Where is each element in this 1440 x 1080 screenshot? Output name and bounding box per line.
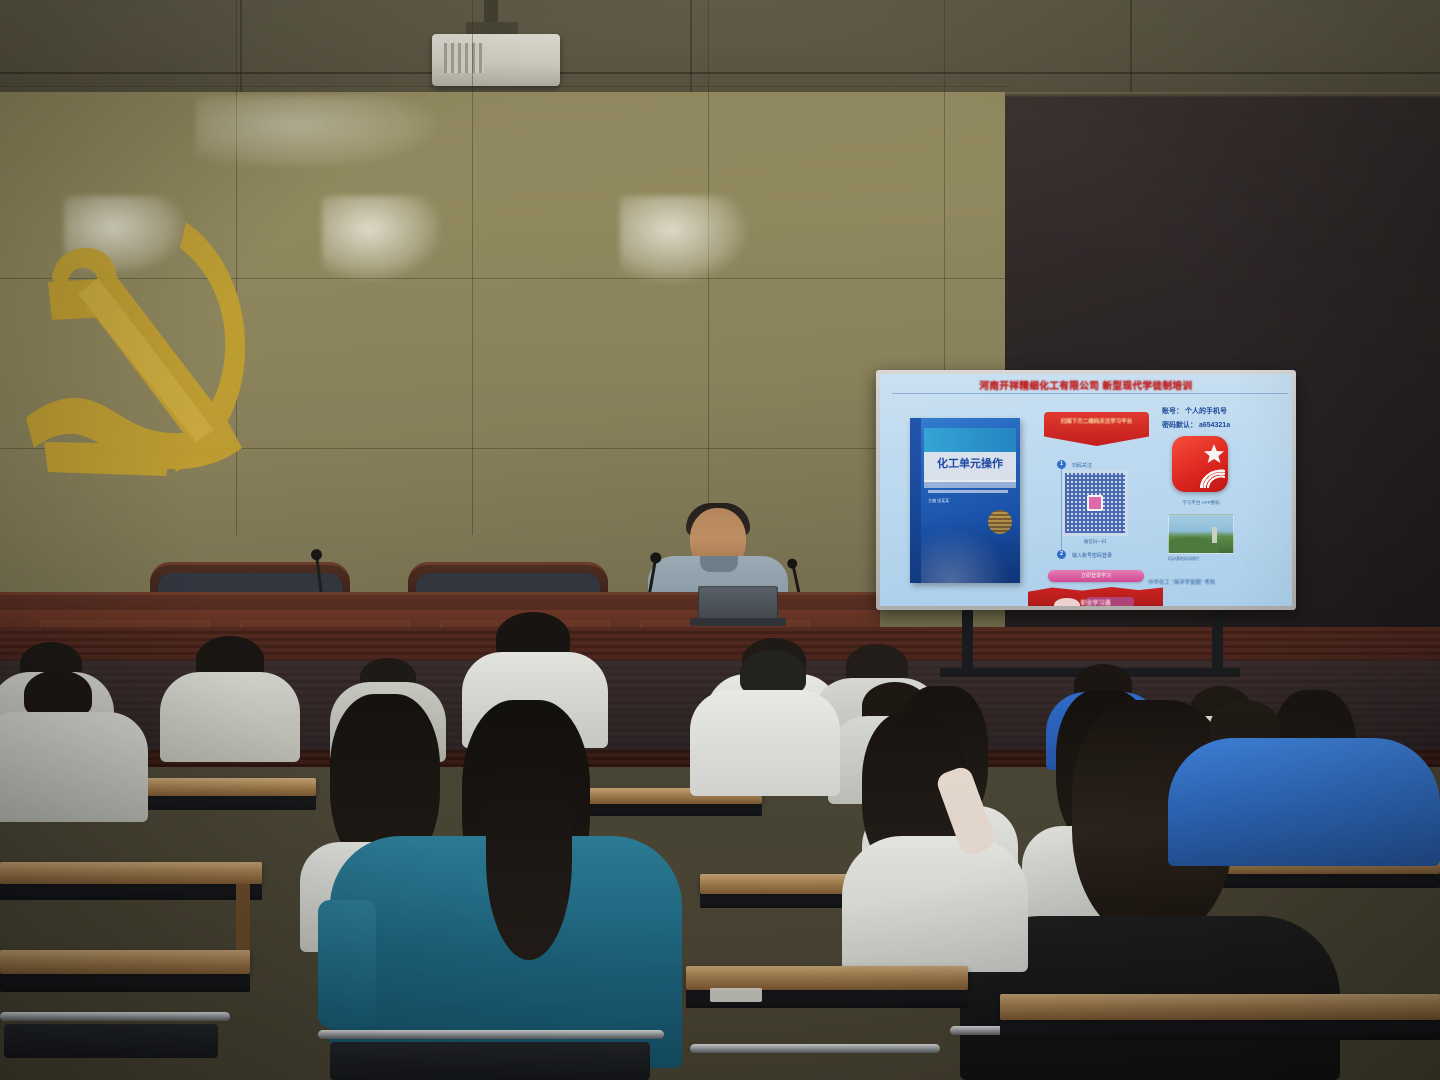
wall-tile-line bbox=[236, 0, 237, 535]
wall-tile-line bbox=[0, 86, 1010, 87]
step-1-badge: 1 bbox=[1057, 460, 1066, 469]
slide-canvas: 河南开祥精细化工有限公司 新型现代学徒制培训 化工单元操作 主编 张某某 扫描下… bbox=[880, 374, 1292, 606]
paper-on-desk bbox=[710, 988, 762, 1002]
chair-back-rail bbox=[318, 1030, 664, 1039]
classroom-photo-scene: 河南开祥精细化工有限公司 新型现代学徒制培训 化工单元操作 主编 张某某 扫描下… bbox=[0, 0, 1440, 1080]
photo-tower-shape bbox=[1212, 527, 1217, 543]
step-2-badge: 2 bbox=[1057, 550, 1066, 559]
qr-caption: 微信扫一扫 bbox=[1062, 539, 1128, 545]
ceiling-grid-line bbox=[240, 0, 242, 96]
login-button-graphic: 立即登录学习 bbox=[1048, 570, 1144, 582]
qr-top-banner-text: 扫描下方二维码关注学习平台 bbox=[1044, 417, 1149, 425]
book-band bbox=[924, 428, 1016, 452]
slide-footer-note: 中华化工 “海洋学堂圈” 考核 bbox=[1148, 578, 1215, 586]
presenter-collar bbox=[700, 556, 738, 572]
presenter-laptop-base bbox=[690, 618, 786, 626]
training-site-photo bbox=[1168, 514, 1234, 554]
qr-code-image bbox=[1062, 470, 1128, 536]
projector-vent-icon bbox=[444, 43, 484, 73]
wall-tile-line bbox=[0, 448, 1010, 449]
wall-tile-line bbox=[708, 0, 709, 535]
ceiling-grid-line bbox=[690, 0, 692, 96]
qr-top-banner: 扫描下方二维码关注学习平台 bbox=[1044, 412, 1149, 446]
bottom-red-banner: 职业学习通 bbox=[1028, 586, 1163, 606]
wall-tile-line bbox=[0, 278, 1010, 279]
book-accent-band bbox=[924, 480, 1016, 488]
chair-seat bbox=[4, 1024, 218, 1058]
ceiling-seam bbox=[0, 72, 1440, 74]
presenter-laptop bbox=[698, 586, 779, 620]
qr-code-logo-icon bbox=[1087, 495, 1103, 511]
slide-title: 河南开祥精细化工有限公司 新型现代学徒制培训 bbox=[880, 378, 1292, 392]
logo-caption: 学习平台 APP图标 bbox=[1166, 500, 1236, 506]
book-spine bbox=[910, 418, 921, 583]
chair-back-rail bbox=[690, 1044, 940, 1053]
presentation-screen[interactable]: 河南开祥精细化工有限公司 新型现代学徒制培训 化工单元操作 主编 张某某 扫描下… bbox=[876, 370, 1296, 610]
student-desk bbox=[1000, 994, 1440, 1020]
chair-seat bbox=[330, 1042, 650, 1080]
screen-stand-leg bbox=[1212, 604, 1223, 676]
book-subtitle-rule bbox=[928, 490, 1008, 493]
photo-caption: 培训基地现场照片 bbox=[1168, 556, 1238, 562]
xuexi-qiangguo-logo-icon bbox=[1172, 436, 1228, 492]
step-1-label: 扫码关注 bbox=[1072, 462, 1092, 469]
student-desk bbox=[686, 966, 968, 990]
ceiling-projector bbox=[432, 34, 560, 86]
ceiling bbox=[0, 0, 1440, 96]
book-wave-graphic bbox=[921, 517, 1020, 583]
password-label: 密码默认： a654321a bbox=[1162, 420, 1230, 430]
textbook-cover-image: 化工单元操作 主编 张某某 bbox=[910, 418, 1020, 583]
login-button-label: 立即登录学习 bbox=[1048, 570, 1144, 582]
step-2-label: 输入账号密码登录 bbox=[1072, 552, 1112, 559]
chair-back-rail bbox=[0, 1012, 230, 1021]
book-author-line: 主编 张某某 bbox=[928, 498, 949, 504]
book-title: 化工单元操作 bbox=[926, 455, 1014, 471]
bottom-banner-text: 职业学习通 bbox=[1028, 598, 1163, 606]
screen-stand-leg bbox=[962, 604, 973, 676]
slide-title-rule bbox=[892, 393, 1288, 394]
account-label: 账号： 个人的手机号 bbox=[1162, 406, 1227, 416]
student-desk bbox=[0, 862, 262, 884]
ceiling-grid-line bbox=[1130, 0, 1132, 96]
student-desk bbox=[0, 950, 250, 974]
wall-tile-line bbox=[472, 0, 473, 535]
